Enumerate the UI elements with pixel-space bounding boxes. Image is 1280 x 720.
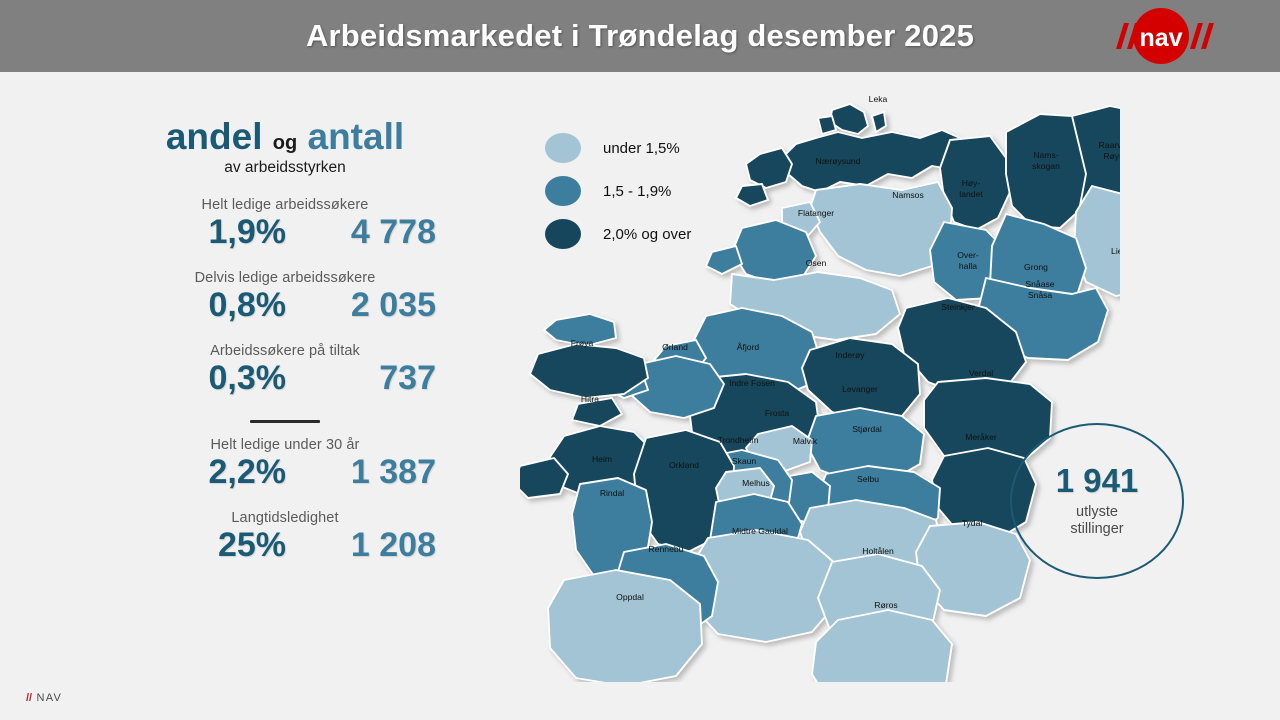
map-label-grong: Grong [1024,262,1048,272]
heading-word-og: og [273,132,297,154]
map-label-naeroysund: Nærøysund [816,156,861,166]
nav-logo-icon: nav [1102,7,1220,65]
stat-count: 1 208 [286,527,436,563]
map-area-naeroysund-islet2[interactable] [736,184,768,206]
map-area-naeroysund-west[interactable] [746,148,792,188]
utlyste-stillinger-circle: 1 941 utlyste stillinger [1010,423,1184,579]
map-label-indre-fosen: Indre Fosen [729,378,775,388]
map-area-oppdal[interactable] [548,570,702,682]
map-label-meraaker: Meråker [965,432,997,442]
stat-percent: 2,2% [134,454,286,490]
map-label-oppdal: Oppdal [616,592,644,602]
stat-langtidsledighet: Langtidsledighet 25% 1 208 [60,510,510,563]
map-label-raarvihke-l2: Røyrvik [1103,151,1120,161]
stat-helt-ledige: Helt ledige arbeidssøkere 1,9% 4 778 [60,197,510,250]
section-divider [250,420,320,423]
heading-word-andel: andel [166,116,263,157]
stat-values: 1,9% 4 778 [60,214,510,250]
andel-og-antall-heading: andel og antall [60,118,510,157]
map-label-osen: Osen [806,258,827,268]
map-label-orkland: Orkland [669,460,699,470]
map-label-roros: Røros [874,600,897,610]
map-label-inderoy: Inderøy [835,350,865,360]
map-label-steinkjer: Steinkjer [941,302,975,312]
stat-label: Helt ledige arbeidssøkere [60,197,510,213]
map-label-raarvihke-l1: Raarvihke [1099,140,1120,150]
stat-percent: 0,8% [134,287,286,323]
stat-count: 2 035 [286,287,436,323]
map-label-flatanger: Flatanger [798,208,834,218]
map-label-namsskogan-l1: Nams- [1033,150,1058,160]
footer-slashes-icon: // [26,692,32,704]
statistics-panel: andel og antall av arbeidsstyrken Helt l… [60,118,510,563]
stat-paa-tiltak: Arbeidssøkere på tiltak 0,3% 737 [60,343,510,396]
map-area-naeroysund-islet1[interactable] [818,116,836,134]
map-label-levanger: Levanger [842,384,878,394]
stat-label: Delvis ledige arbeidssøkere [60,270,510,286]
stat-values: 2,2% 1 387 [60,454,510,490]
map-label-melhus: Melhus [742,478,770,488]
map-label-stjordal: Stjørdal [852,424,882,434]
map-label-holtaalen: Holtålen [862,546,894,556]
map-label-midtre-gauldal: Midtre Gauldal [732,526,788,536]
map-area-hitra[interactable] [530,344,648,398]
map-label-skaun: Skaun [732,456,757,466]
stat-label: Arbeidssøkere på tiltak [60,343,510,359]
map-label-overhalla-l1: Over- [957,250,979,260]
heading-word-antall: antall [308,116,405,157]
map-label-snaase-l2: Snåsa [1028,290,1053,300]
stat-count: 4 778 [286,214,436,250]
stat-count: 1 387 [286,454,436,490]
map-label-lierne: Lierne [1111,246,1120,256]
kpi-caption-line2: stillinger [1070,521,1123,538]
stat-values: 0,8% 2 035 [60,287,510,323]
map-label-hoylandet-l2: landet [959,189,983,199]
map-label-tydal: Tydal [962,518,983,528]
stat-delvis-ledige: Delvis ledige arbeidssøkere 0,8% 2 035 [60,270,510,323]
map-label-snaase-l1: Snåase [1025,279,1054,289]
map-label-orland: Ørland [662,342,688,352]
kpi-caption: utlyste stillinger [1070,504,1123,538]
map-label-froya: Frøya [571,338,594,348]
map-label-afjord: Åfjord [737,342,760,352]
footer-text: NAV [36,692,62,704]
map-label-hitra: Hitra [581,394,599,404]
stat-under-30: Helt ledige under 30 år 2,2% 1 387 [60,437,510,490]
stat-percent: 1,9% [134,214,286,250]
map-area-flatanger-isle[interactable] [706,246,742,274]
map-label-hoylandet-l1: Høy- [962,178,981,188]
map-label-leka: Leka [869,94,888,104]
stat-percent: 25% [134,527,286,563]
map-area-leka-islet[interactable] [872,112,886,132]
stat-percent: 0,3% [134,360,286,396]
stat-label: Langtidsledighet [60,510,510,526]
map-label-selbu: Selbu [857,474,879,484]
map-label-frosta: Frosta [765,408,790,418]
stat-values: 25% 1 208 [60,527,510,563]
stat-label: Helt ledige under 30 år [60,437,510,453]
map-label-overhalla-l2: halla [959,261,977,271]
kpi-value: 1 941 [1056,464,1139,497]
map-label-namsskogan-l2: skogan [1032,161,1060,171]
map-label-rindal: Rindal [600,488,624,498]
map-label-namsos: Namsos [892,190,924,200]
map-label-malvik: Malvik [793,436,818,446]
stat-values: 0,3% 737 [60,360,510,396]
kpi-caption-line1: utlyste [1070,504,1123,521]
page-title: Arbeidsmarkedet i Trøndelag desember 202… [0,0,1280,72]
trondelag-choropleth-map: Leka Nærøysund Namsos Flatanger Høy- lan… [520,82,1120,682]
stat-count: 737 [286,360,436,396]
heading-subtitle: av arbeidsstyrken [60,159,510,177]
page-header: Arbeidsmarkedet i Trøndelag desember 202… [0,0,1280,72]
svg-text:nav: nav [1139,24,1182,52]
map-label-rennebu: Rennebu [649,544,684,554]
map-label-heim: Heim [592,454,612,464]
map-label-trondheim: Trondheim [718,435,759,445]
map-label-verdal: Verdal [969,368,993,378]
footer-nav-mark: // NAV [26,692,62,704]
